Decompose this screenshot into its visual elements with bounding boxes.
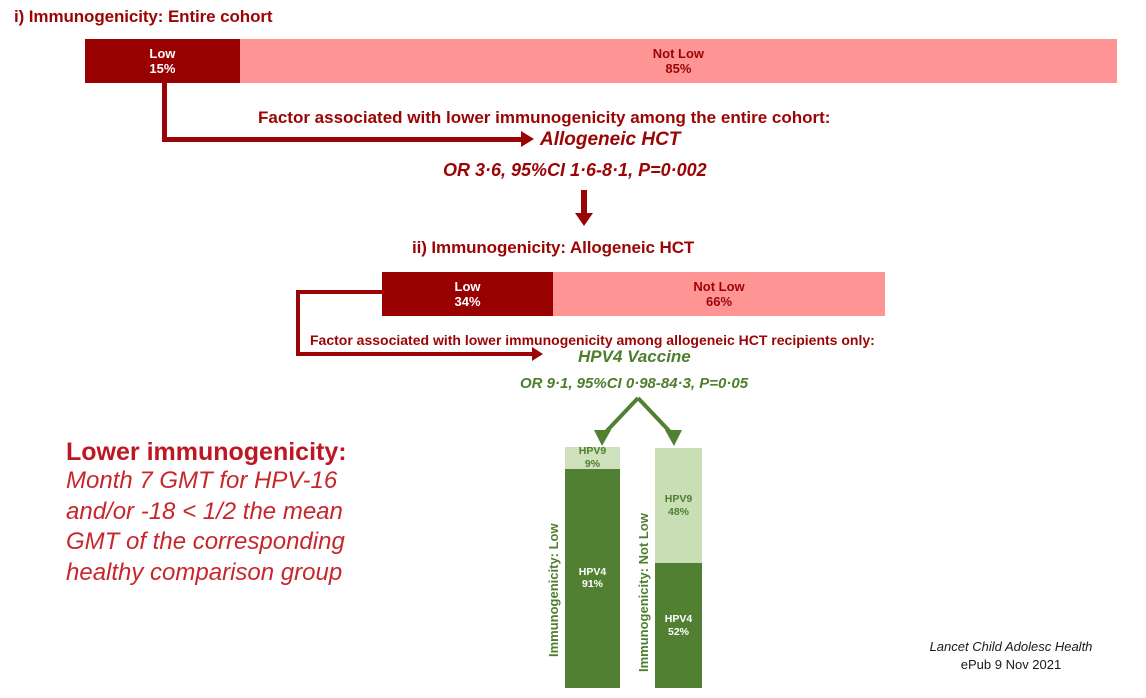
vbar-right-hpv4-value: 52%	[668, 626, 689, 639]
entire-cohort-notlow-label: Not Low	[653, 46, 704, 61]
immunogenicity-low-vaccine-bar: HPV9 9% HPV4 91%	[565, 447, 620, 688]
panel-one-factor-name: Allogeneic HCT	[540, 129, 680, 151]
lower-immunogenicity-definition: Lower immunogenicity: Month 7 GMT for HP…	[66, 438, 347, 589]
citation: Lancet Child Adolesc Health ePub 9 Nov 2…	[886, 638, 1136, 673]
allogeneic-low-value: 34%	[454, 294, 480, 309]
vbar-left-hpv4-segment: HPV4 91%	[565, 469, 620, 688]
connector-one-arrowhead-icon	[521, 131, 534, 147]
panel-two-heading: ii) Immunogenicity: Allogeneic HCT	[412, 238, 694, 258]
vbar-right-hpv4-segment: HPV4 52%	[655, 563, 702, 688]
vbar-right-axis-label: Immunogenicity: Not Low	[636, 472, 651, 672]
vbar-left-hpv4-value: 91%	[582, 578, 603, 591]
allogeneic-low-label: Low	[455, 279, 481, 294]
allogeneic-notlow-label: Not Low	[693, 279, 744, 294]
definition-line-3: GMT of the corresponding	[66, 527, 347, 558]
panel-two-factor-caption: Factor associated with lower immunogenic…	[310, 332, 875, 348]
panel-one-factor-caption: Factor associated with lower immunogenic…	[258, 108, 830, 128]
definition-title: Lower immunogenicity:	[66, 438, 347, 466]
allogeneic-notlow-value: 66%	[706, 294, 732, 309]
connector-one-vertical	[162, 83, 167, 142]
panel-two-factor-stats: OR 9·1, 95%CI 0·98-84·3, P=0·05	[520, 375, 748, 392]
entire-cohort-bar: Low 15% Not Low 85%	[85, 39, 1117, 83]
definition-line-1: Month 7 GMT for HPV-16	[66, 466, 347, 497]
vbar-left-hpv4-label: HPV4	[579, 566, 606, 579]
allogeneic-hct-bar: Low 34% Not Low 66%	[382, 272, 885, 316]
allogeneic-notlow-segment: Not Low 66%	[553, 272, 885, 316]
vbar-right-hpv4-label: HPV4	[665, 613, 692, 626]
entire-cohort-notlow-value: 85%	[665, 61, 691, 76]
panel-link-arrow-shaft	[581, 190, 587, 215]
panel-two-factor-name: HPV4 Vaccine	[578, 347, 691, 367]
vbar-left-axis-label: Immunogenicity: Low	[546, 487, 561, 657]
allogeneic-low-segment: Low 34%	[382, 272, 553, 316]
immunogenicity-notlow-vaccine-bar: HPV9 48% HPV4 52%	[655, 448, 702, 688]
citation-detail: ePub 9 Nov 2021	[886, 656, 1136, 674]
figure-canvas: i) Immunogenicity: Entire cohort Low 15%…	[0, 0, 1146, 698]
connector-two-horizontal	[296, 352, 534, 356]
vbar-right-hpv9-label: HPV9	[665, 493, 692, 506]
vbar-left-hpv9-label: HPV9	[579, 445, 606, 458]
connector-two-arrowhead-icon	[532, 347, 543, 361]
vbar-left-hpv9-segment: HPV9 9%	[565, 447, 620, 469]
definition-line-2: and/or -18 < 1/2 the mean	[66, 497, 347, 528]
entire-cohort-low-label: Low	[149, 46, 175, 61]
connector-two-top-horizontal	[296, 290, 386, 294]
panel-one-factor-stats: OR 3·6, 95%CI 1·6-8·1, P=0·002	[443, 160, 707, 181]
vbar-right-hpv9-segment: HPV9 48%	[655, 448, 702, 563]
connector-one-horizontal	[162, 137, 522, 142]
citation-journal: Lancet Child Adolesc Health	[886, 638, 1136, 656]
entire-cohort-low-segment: Low 15%	[85, 39, 240, 83]
entire-cohort-low-value: 15%	[149, 61, 175, 76]
panel-link-arrowhead-icon	[575, 213, 593, 226]
vbar-right-hpv9-value: 48%	[668, 506, 689, 519]
entire-cohort-notlow-segment: Not Low 85%	[240, 39, 1117, 83]
definition-line-4: healthy comparison group	[66, 558, 347, 589]
connector-two-vertical	[296, 290, 300, 356]
panel-one-heading: i) Immunogenicity: Entire cohort	[14, 7, 272, 27]
